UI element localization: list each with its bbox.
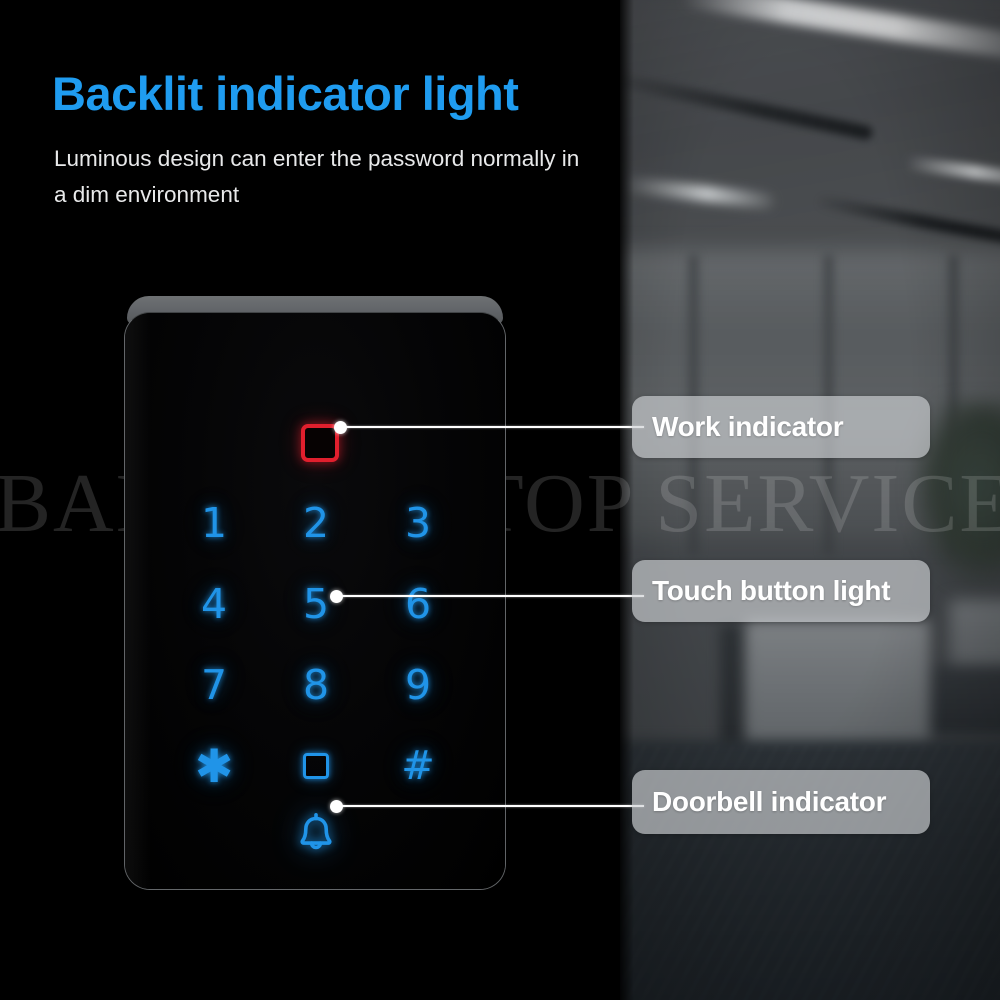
callout-line-doorbell-indicator	[340, 805, 644, 807]
square-outline-icon	[303, 753, 329, 779]
callout-label-touch-button-light: Touch button light	[652, 575, 890, 607]
page-subtitle: Luminous design can enter the password n…	[54, 141, 594, 213]
callout-label-work-indicator: Work indicator	[652, 411, 843, 443]
callout-line-touch-button-light	[340, 595, 644, 597]
page-title: Backlit indicator light	[52, 66, 518, 121]
photo-shading-overlay	[620, 0, 1000, 1000]
key-2[interactable]: 2	[265, 501, 367, 545]
key-9[interactable]: 9	[367, 663, 469, 707]
doorbell-bell-icon[interactable]	[125, 813, 506, 857]
device-edge-sheen	[125, 313, 151, 889]
key-5[interactable]: 5	[265, 582, 367, 626]
key-3[interactable]: 3	[367, 501, 469, 545]
callout-label-doorbell-indicator: Doorbell indicator	[652, 786, 886, 818]
photo-left-seam	[620, 0, 634, 1000]
callout-touch-button-light[interactable]: Touch button light	[632, 560, 930, 622]
key-1[interactable]: 1	[163, 501, 265, 545]
bell-icon	[295, 813, 337, 857]
key-4[interactable]: 4	[163, 582, 265, 626]
key-7[interactable]: 7	[163, 663, 265, 707]
key-star[interactable]: ✱	[163, 744, 265, 788]
key-6[interactable]: 6	[367, 582, 469, 626]
callout-work-indicator[interactable]: Work indicator	[632, 396, 930, 458]
keypad-device: 1 2 3 4 5 6 7 8 9 ✱ #	[124, 296, 506, 890]
keypad-grid: 1 2 3 4 5 6 7 8 9 ✱ #	[163, 501, 469, 788]
callout-line-work-indicator	[344, 426, 644, 428]
product-feature-image: Backlit indicator light Luminous design …	[0, 0, 1000, 1000]
key-hash[interactable]: #	[367, 744, 469, 788]
device-body: 1 2 3 4 5 6 7 8 9 ✱ #	[124, 312, 506, 890]
work-indicator-led	[301, 424, 339, 462]
background-photo-office	[620, 0, 1000, 1000]
callout-doorbell-indicator[interactable]: Doorbell indicator	[632, 770, 930, 834]
key-8[interactable]: 8	[265, 663, 367, 707]
key-square-enter[interactable]	[265, 744, 367, 788]
